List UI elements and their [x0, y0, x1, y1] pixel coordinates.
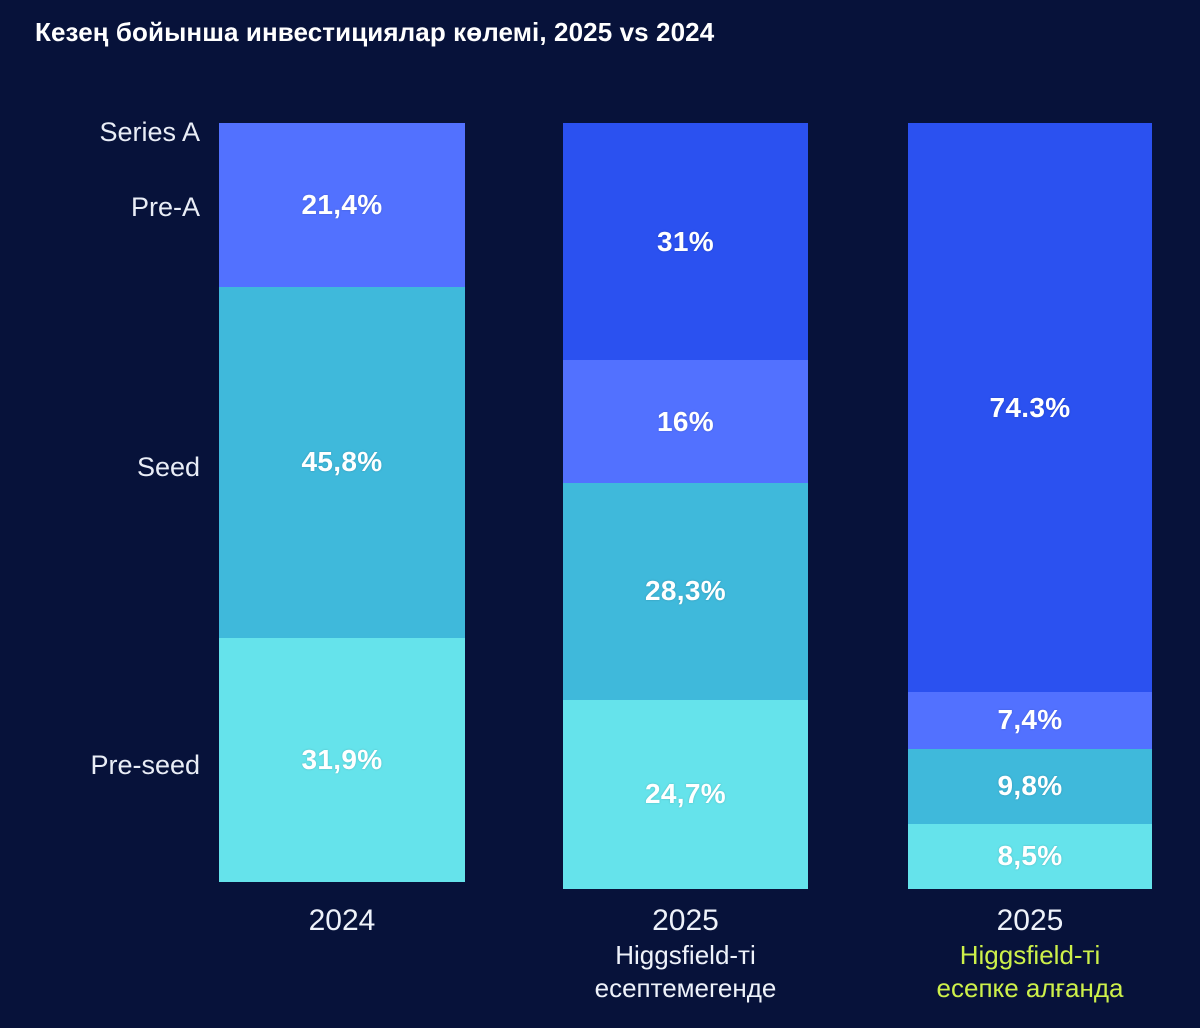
segment-2025-incl-seed[interactable]: 9,8%	[908, 749, 1152, 824]
segment-label: 16%	[657, 406, 714, 438]
segment-2024-pre-seed[interactable]: 31,9%	[219, 638, 465, 882]
segment-2025-incl-series-a[interactable]: 74.3%	[908, 123, 1152, 692]
x-axis-note-line2: есептемегенде	[553, 973, 818, 1004]
segment-2025-excl-seed[interactable]: 28,3%	[563, 483, 808, 700]
stacked-bar-2025-including-higgsfield[interactable]: 74.3% 7,4% 9,8% 8,5%	[908, 123, 1152, 889]
segment-label: 45,8%	[302, 446, 383, 478]
plot-area: 21,4% 45,8% 31,9% 31% 16% 28,3% 24,7%	[0, 123, 1200, 889]
x-axis-note-line1: Higgsfield-ті	[898, 940, 1162, 971]
segment-2025-incl-pre-a[interactable]: 7,4%	[908, 692, 1152, 749]
segment-label: 28,3%	[645, 575, 726, 607]
x-axis-year: 2025	[553, 903, 818, 938]
segment-2024-pre-a[interactable]: 21,4%	[219, 123, 465, 287]
segment-2025-excl-pre-a[interactable]: 16%	[563, 360, 808, 483]
segment-label: 9,8%	[997, 770, 1062, 802]
segment-label: 74.3%	[990, 392, 1071, 424]
segment-label: 21,4%	[302, 189, 383, 221]
x-axis-year: 2025	[898, 903, 1162, 938]
segment-2025-excl-series-a[interactable]: 31%	[563, 123, 808, 360]
x-axis-note-line2: есепке алғанда	[898, 973, 1162, 1004]
segment-2025-excl-pre-seed[interactable]: 24,7%	[563, 700, 808, 889]
segment-label: 7,4%	[997, 704, 1062, 736]
x-axis-label-2024: 2024	[219, 903, 465, 938]
segment-2025-incl-pre-seed[interactable]: 8,5%	[908, 824, 1152, 889]
segment-label: 31,9%	[302, 744, 383, 776]
chart-canvas: Кезең бойынша инвестициялар көлемі, 2025…	[0, 0, 1200, 1028]
chart-title: Кезең бойынша инвестициялар көлемі, 2025…	[35, 17, 714, 48]
stacked-bar-2025-excluding-higgsfield[interactable]: 31% 16% 28,3% 24,7%	[563, 123, 808, 889]
x-axis-label-2025-including-higgsfield: 2025 Higgsfield-ті есепке алғанда	[898, 903, 1162, 1004]
x-axis-label-2025-excluding-higgsfield: 2025 Higgsfield-ті есептемегенде	[553, 903, 818, 1004]
segment-label: 8,5%	[997, 840, 1062, 872]
x-axis-note-line1: Higgsfield-ті	[553, 940, 818, 971]
x-axis-year: 2024	[219, 903, 465, 938]
stacked-bar-2024[interactable]: 21,4% 45,8% 31,9%	[219, 123, 465, 889]
segment-label: 24,7%	[645, 778, 726, 810]
segment-label: 31%	[657, 226, 714, 258]
segment-2024-seed[interactable]: 45,8%	[219, 287, 465, 638]
